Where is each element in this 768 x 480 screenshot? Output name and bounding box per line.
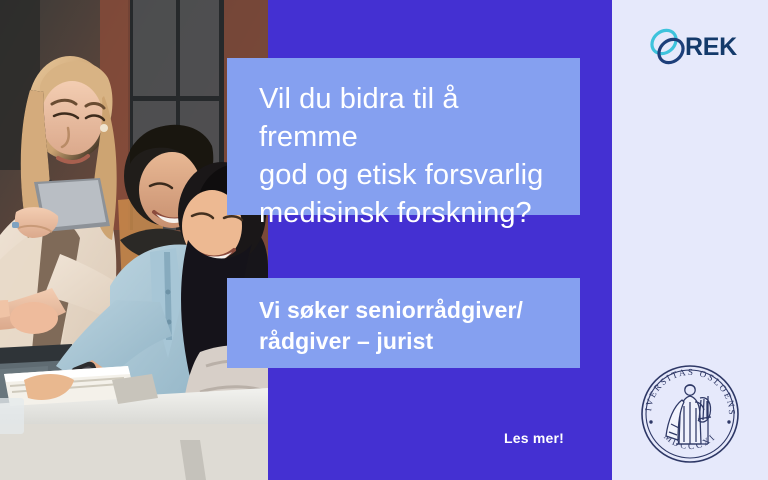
interlocking-rings-icon	[648, 26, 688, 68]
uio-seal: UNIVERSITAS OSLOENSIS MDCCCXI	[638, 362, 742, 466]
recruitment-banner: Vil du bidra til å fremme god og etisk f…	[0, 0, 768, 480]
headline-line-2: god og etisk forsvarlig	[259, 156, 550, 194]
headline-line-3: medisinsk forskning?	[259, 194, 550, 232]
read-more-link[interactable]: Les mer!	[504, 430, 564, 446]
headline-line-1: Vil du bidra til å fremme	[259, 80, 550, 156]
apollo-with-lyre-icon	[666, 385, 711, 444]
job-role-card: Vi søker seniorrådgiver/ rådgiver – juri…	[227, 278, 580, 368]
rek-logo[interactable]: REK	[648, 24, 740, 70]
role-line-2: rådgiver – jurist	[259, 326, 550, 357]
rek-wordmark: REK	[685, 33, 737, 62]
headline-card: Vil du bidra til å fremme god og etisk f…	[227, 58, 580, 215]
role-line-1: Vi søker seniorrådgiver/	[259, 295, 550, 326]
